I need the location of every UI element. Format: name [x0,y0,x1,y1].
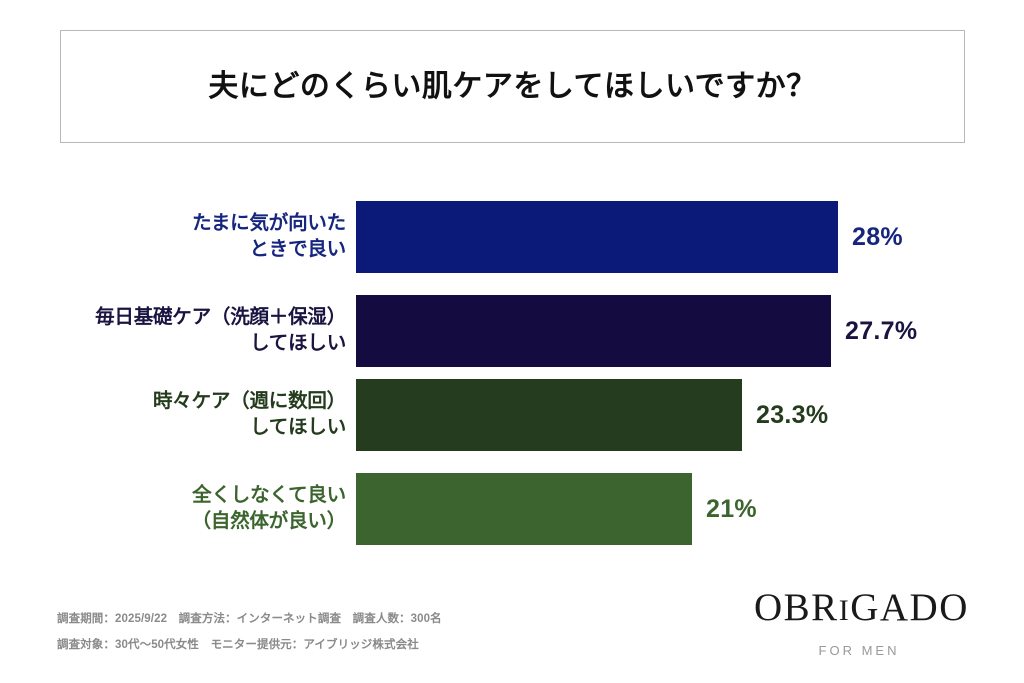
value-label: 21% [706,495,757,524]
brand-logo: OBRIGADO FOR MEN [754,588,964,658]
logo-wordmark: OBRIGADO [754,588,964,629]
category-label: たまに気が向いた ときで良い [0,211,356,262]
survey-footnote: 調査期間：2025/9/22 調査方法：インターネット調査 調査人数：300名 … [57,607,577,659]
bar-segment [356,379,742,451]
bar-segment [356,295,831,367]
logo-text-i: I [839,594,851,627]
bar-chart: たまに気が向いた ときで良い 28% 毎日基礎ケア（洗顔＋保湿） してほしい 2… [0,185,1024,560]
bar-segment [356,201,838,273]
category-label: 毎日基礎ケア（洗顔＋保湿） してほしい [0,305,356,356]
page-title: 夫にどのくらい肌ケアをしてほしいですか？ [208,69,816,105]
logo-tagline: FOR MEN [754,643,964,658]
survey-meta-line-2: 調査対象：30代〜50代女性 モニター提供元：アイブリッジ株式会社 [57,633,577,659]
logo-text-part1: OBR [754,586,839,629]
bar-segment [356,473,692,545]
chart-row: 全くしなくて良い （自然体が良い） 21% [0,473,1024,545]
bar-group: 28% [356,201,903,273]
bar-group: 21% [356,473,757,545]
survey-meta-line-1: 調査期間：2025/9/22 調査方法：インターネット調査 調査人数：300名 [57,607,577,633]
value-label: 27.7% [845,317,917,346]
value-label: 28% [852,223,903,252]
title-box: 夫にどのくらい肌ケアをしてほしいですか？ [60,30,965,143]
category-label: 時々ケア（週に数回） してほしい [0,389,356,440]
value-label: 23.3% [756,401,828,430]
bar-group: 27.7% [356,295,917,367]
logo-text-part2: GADO [850,586,969,629]
category-label: 全くしなくて良い （自然体が良い） [0,483,356,534]
chart-row: たまに気が向いた ときで良い 28% [0,201,1024,273]
chart-row: 時々ケア（週に数回） してほしい 23.3% [0,379,1024,451]
chart-row: 毎日基礎ケア（洗顔＋保湿） してほしい 27.7% [0,295,1024,367]
bar-group: 23.3% [356,379,828,451]
